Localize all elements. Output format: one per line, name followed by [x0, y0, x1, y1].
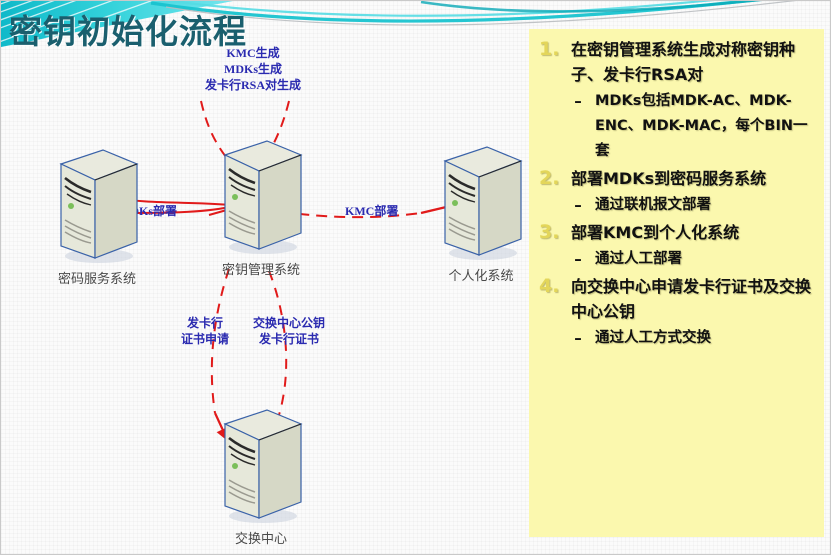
node-crypto-service[interactable]: 密码服务系统 — [41, 146, 161, 296]
note-generation: KMC生成 MDKs生成 发卡行RSA对生成 — [164, 45, 342, 93]
label-cert-issue: 交换中心公钥 发卡行证书 — [241, 315, 337, 347]
dash-bullet-icon: – — [535, 247, 595, 272]
note-line-3: 发卡行RSA对生成 — [164, 77, 342, 93]
step-sub-text: 通过人工方式交换 — [595, 326, 711, 351]
note-line-1: KMC生成 — [164, 45, 342, 61]
step-sub-text: MDKs包括MDK-AC、MDK-ENC、MDK-MAC，每个BIN一套 — [595, 89, 814, 164]
node-personalization[interactable]: 个人化系统 — [425, 143, 545, 293]
server-tower-icon — [41, 146, 151, 266]
label-cert-request: 发卡行 证书申请 — [173, 315, 237, 347]
node-personalization-label: 个人化系统 — [448, 265, 513, 284]
step-item[interactable]: 2. 部署MDKs到密码服务系统 — [535, 166, 814, 191]
step-text: 部署KMC到个人化系统 — [571, 220, 739, 245]
step-number: 4. — [535, 274, 571, 299]
node-crypto-service-label: 密码服务系统 — [58, 268, 136, 287]
step-text: 在密钥管理系统生成对称密钥种子、发卡行RSA对 — [571, 37, 814, 87]
label-cert-request-line-2: 证书申请 — [173, 331, 237, 347]
step-number: 1. — [535, 37, 571, 62]
label-cert-issue-line-2: 发卡行证书 — [241, 331, 337, 347]
step-sub-item[interactable]: – 通过人工方式交换 — [535, 326, 814, 351]
server-tower-icon — [205, 406, 315, 526]
label-kmc-deploy: KMC部署 — [345, 203, 398, 219]
step-sub-item[interactable]: – 通过人工部署 — [535, 247, 814, 272]
step-text: 部署MDKs到密码服务系统 — [571, 166, 766, 191]
step-sub-item[interactable]: – MDKs包括MDK-AC、MDK-ENC、MDK-MAC，每个BIN一套 — [535, 89, 814, 164]
slide-canvas: 密钥初始化流程 — [0, 0, 831, 555]
server-tower-icon — [425, 143, 535, 263]
step-sub-text: 通过人工部署 — [595, 247, 682, 272]
node-exchange-center-label: 交换中心 — [235, 528, 287, 547]
dash-bullet-icon: – — [535, 193, 595, 218]
step-text: 向交换中心申请发卡行证书及交换中心公钥 — [571, 274, 814, 324]
node-key-management[interactable]: 密钥管理系统 — [205, 137, 335, 297]
label-cert-issue-line-1: 交换中心公钥 — [241, 315, 337, 331]
node-exchange-center[interactable]: 交换中心 — [205, 406, 335, 555]
label-cert-request-line-1: 发卡行 — [173, 315, 237, 331]
step-item[interactable]: 1. 在密钥管理系统生成对称密钥种子、发卡行RSA对 — [535, 37, 814, 87]
step-number: 3. — [535, 220, 571, 245]
step-item[interactable]: 4. 向交换中心申请发卡行证书及交换中心公钥 — [535, 274, 814, 324]
dash-bullet-icon: – — [535, 89, 595, 114]
step-sub-item[interactable]: – 通过联机报文部署 — [535, 193, 814, 218]
step-sub-text: 通过联机报文部署 — [595, 193, 711, 218]
flow-diagram: KMC生成 MDKs生成 发卡行RSA对生成 MDKs部署 KMC部署 发卡行 … — [1, 1, 529, 555]
step-item[interactable]: 3. 部署KMC到个人化系统 — [535, 220, 814, 245]
dash-bullet-icon: – — [535, 326, 595, 351]
node-key-management-label: 密钥管理系统 — [222, 259, 300, 278]
steps-list: 1. 在密钥管理系统生成对称密钥种子、发卡行RSA对 – MDKs包括MDK-A… — [529, 29, 824, 351]
note-line-2: MDKs生成 — [164, 61, 342, 77]
step-number: 2. — [535, 166, 571, 191]
server-tower-icon — [205, 137, 315, 257]
steps-panel: 1. 在密钥管理系统生成对称密钥种子、发卡行RSA对 – MDKs包括MDK-A… — [529, 29, 824, 537]
